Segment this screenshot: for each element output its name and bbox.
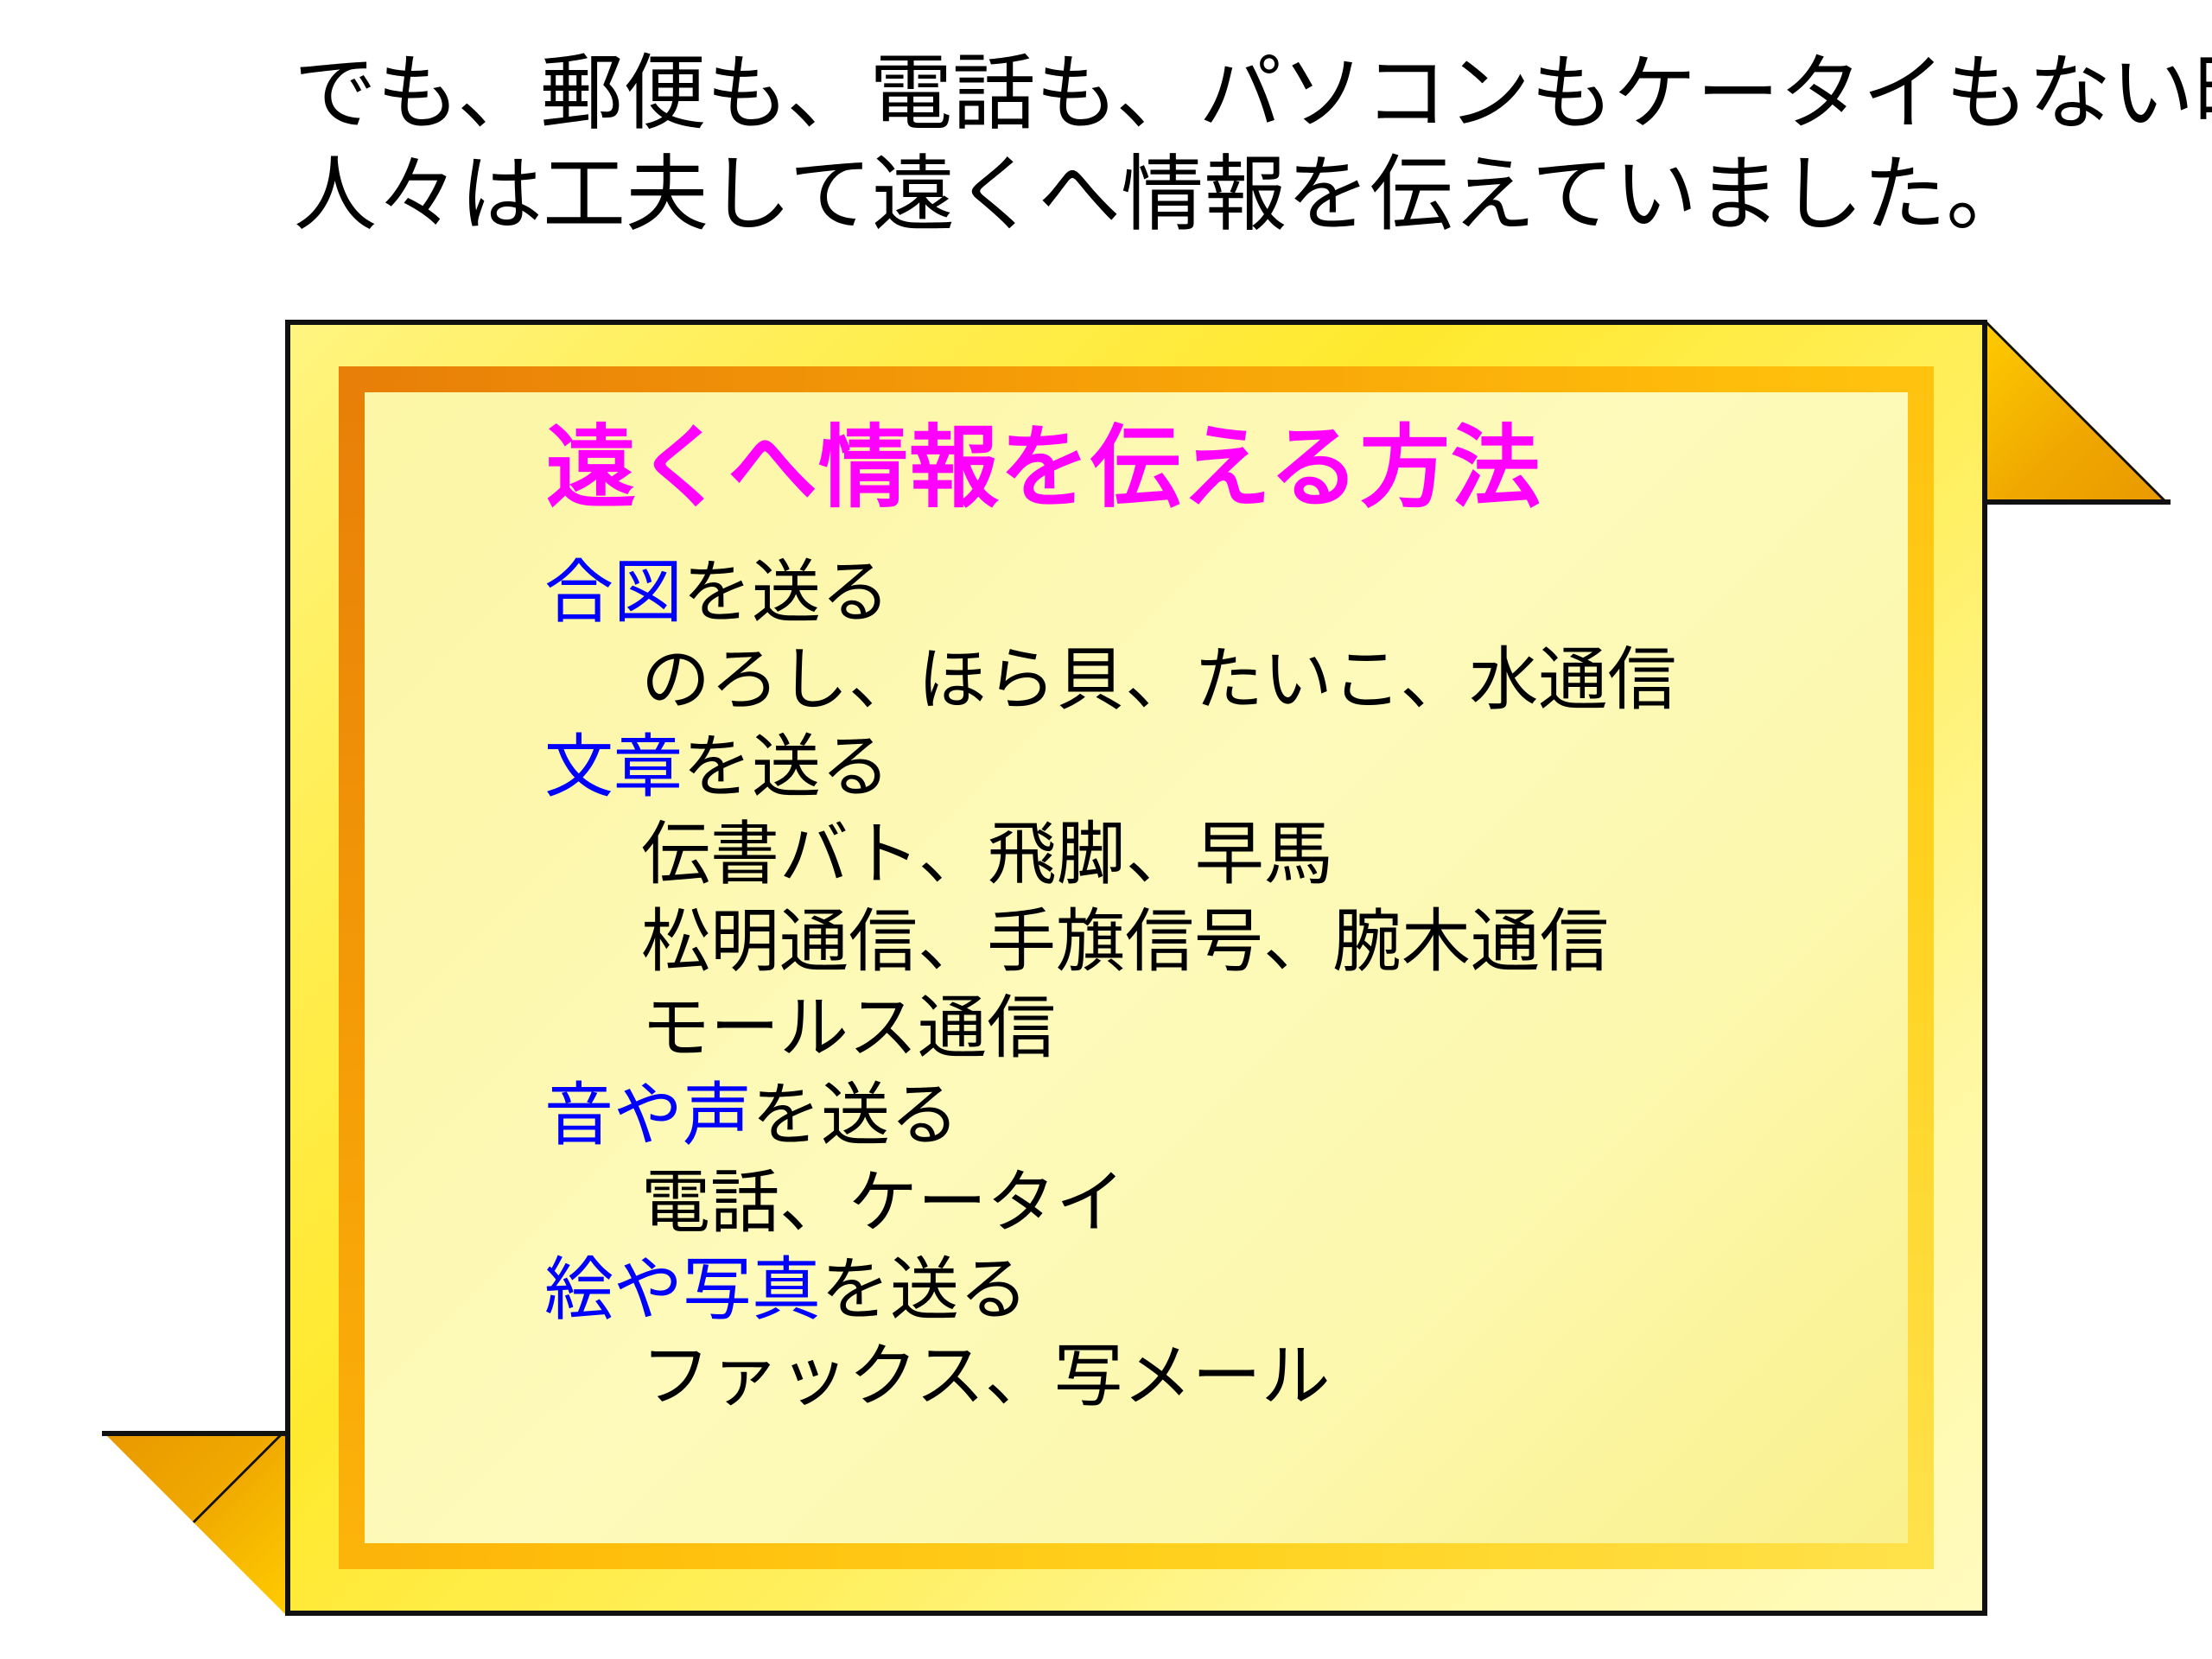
section-suffix: を送る [683,554,890,631]
section-item: 伝書バト、飛脚、早馬 [641,811,1908,899]
folded-corner-bottom-left-edge [102,1431,287,1436]
section-suffix: を送る [821,1251,1028,1328]
section-suffix: を送る [752,1077,959,1154]
folded-corner-bottom-left-icon [102,1431,287,1616]
folded-corner-top-right-icon [1986,320,2171,505]
section-item: ファックス、写メール [641,1333,1908,1421]
panel-content: 遠くへ情報を伝える方法 合図を送る のろし、ほら貝、たいこ、水通信 文章を送る … [365,392,1908,1543]
section-item: 松明通信、手旗信号、腕木通信 [641,899,1908,986]
content-panel: 遠くへ情報を伝える方法 合図を送る のろし、ほら貝、たいこ、水通信 文章を送る … [285,320,1987,1616]
section-item: モールス通信 [641,985,1908,1072]
headline-line-1: でも、郵便も、電話も、パソコンもケータイもない時代から [294,43,2126,144]
method-section-text: 文章を送る 伝書バト、飛脚、早馬 松明通信、手旗信号、腕木通信 モールス通信 [365,724,1908,1072]
method-section-image: 絵や写真を送る ファックス、写メール [365,1247,1908,1421]
panel-inner-field: 遠くへ情報を伝える方法 合図を送る のろし、ほら貝、たいこ、水通信 文章を送る … [365,392,1908,1543]
panel-title: 遠くへ情報を伝える方法 [546,420,1908,517]
section-heading: 絵や写真を送る [544,1247,1908,1334]
headline-line-2: 人々は工夫して遠くへ情報を伝えていました。 [294,144,2126,245]
section-item: 電話、ケータイ [641,1160,1908,1247]
section-keyword: 音や声 [544,1077,752,1154]
slide-headline: でも、郵便も、電話も、パソコンもケータイもない時代から 人々は工夫して遠くへ情報… [294,43,2126,245]
section-keyword: 絵や写真 [544,1251,821,1328]
section-suffix: を送る [683,728,890,805]
methods-list: 合図を送る のろし、ほら貝、たいこ、水通信 文章を送る 伝書バト、飛脚、早馬 松… [365,550,1908,1421]
section-keyword: 文章 [544,728,683,805]
section-item: のろし、ほら貝、たいこ、水通信 [641,637,1908,724]
folded-corner-top-right-edge [1986,499,2171,505]
method-section-signal: 合図を送る のろし、ほら貝、たいこ、水通信 [365,550,1908,724]
section-heading: 合図を送る [544,550,1908,637]
section-heading: 文章を送る [544,724,1908,811]
section-keyword: 合図 [544,554,683,631]
section-heading: 音や声を送る [544,1072,1908,1160]
method-section-sound: 音や声を送る 電話、ケータイ [365,1072,1908,1247]
